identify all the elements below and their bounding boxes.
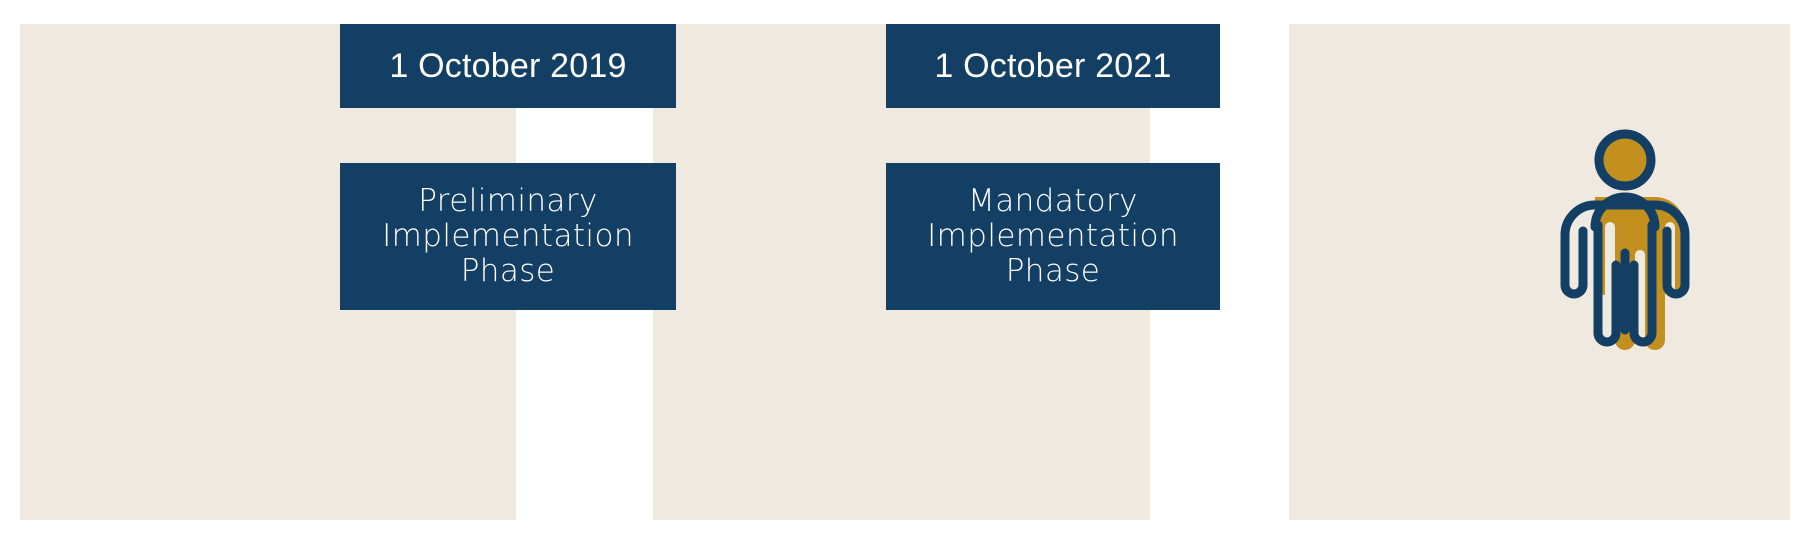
milestone-1-date-box: 1 October 2019 xyxy=(340,24,676,108)
milestone-2-date-box: 1 October 2021 xyxy=(886,24,1220,108)
milestone-1-phase-box: Preliminary Implementation Phase xyxy=(340,163,676,310)
milestone-2-phase-label: Mandatory Implementation Phase xyxy=(921,184,1185,289)
milestone-1-phase-label: Preliminary Implementation Phase xyxy=(376,184,640,289)
milestone-1-date-label: 1 October 2019 xyxy=(389,47,626,86)
person-icon xyxy=(1540,125,1710,355)
timeline-canvas: 1 October 2019 1 October 2021 Preliminar… xyxy=(0,0,1810,543)
milestone-2-phase-box: Mandatory Implementation Phase xyxy=(886,163,1220,310)
milestone-2-date-label: 1 October 2021 xyxy=(934,47,1171,86)
